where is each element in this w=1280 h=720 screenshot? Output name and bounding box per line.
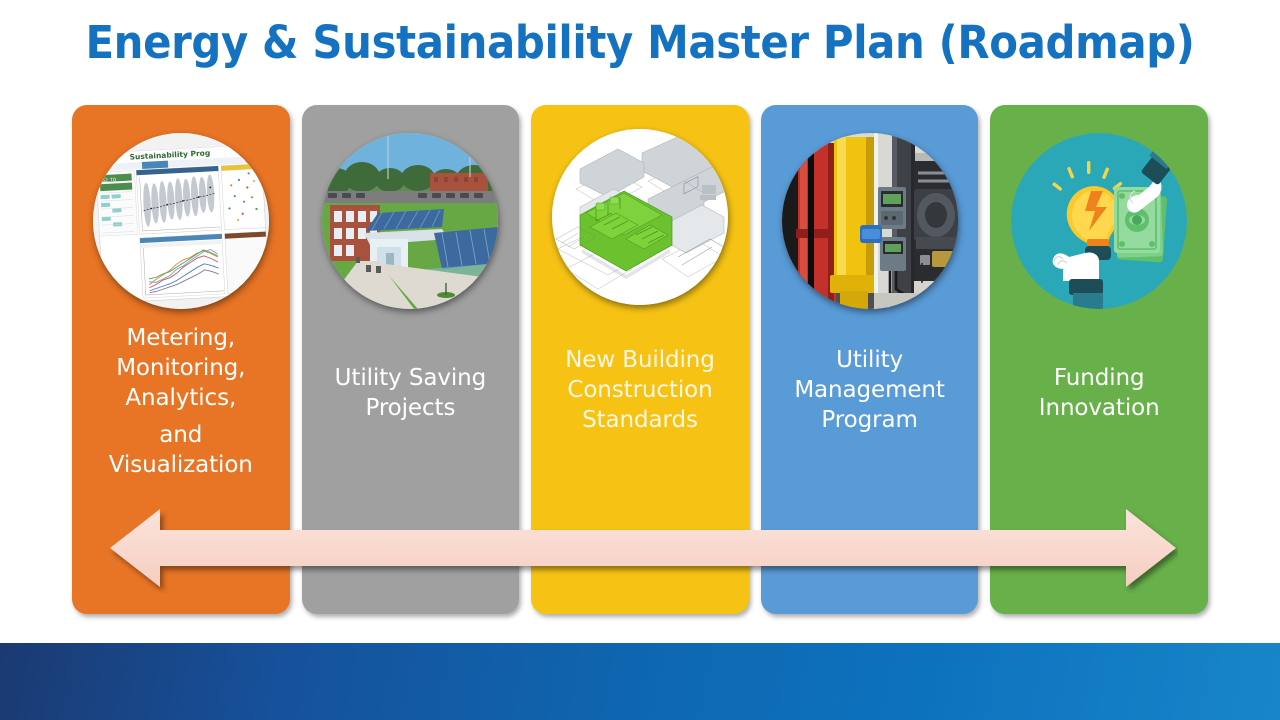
card-label-line: Standards: [582, 407, 698, 433]
card-label-line: New Building: [565, 347, 715, 373]
roadmap-card-utility-management[interactable]: Utility Management Program: [761, 105, 979, 614]
roadmap-card-metering[interactable]: Sustainability Prog 62.70: [72, 105, 290, 614]
card-label-line: Metering,: [126, 325, 235, 351]
card-label-line: Construction: [567, 377, 712, 403]
page-title: Energy & Sustainability Master Plan (Roa…: [45, 16, 1235, 69]
card-label-line: Utility: [836, 347, 903, 373]
roadmap-card-new-building[interactable]: New Building Construction Standards: [531, 105, 749, 614]
card-label-funding-innovation: Funding Innovation: [996, 363, 1202, 423]
card-image-utility-management: [782, 133, 958, 309]
card-image-new-building: [552, 129, 728, 305]
card-label-utility-management: Utility Management Program: [767, 345, 973, 435]
footer-bar: ALAMO COLLEGES DISTRICT Malcolm Baldrige…: [0, 643, 1280, 720]
card-image-utility-saving: [322, 133, 498, 309]
energy-dashboard-analytics-screenshot: Sustainability Prog 62.70: [93, 133, 269, 309]
roadmap-card-utility-saving[interactable]: Utility Saving Projects: [302, 105, 520, 614]
card-label-metering: Metering, Monitoring, Analytics, and Vis…: [78, 323, 284, 480]
card-label-line: Innovation: [1039, 395, 1160, 421]
card-label-line: Utility Saving: [335, 365, 486, 391]
roadmap-card-row: Sustainability Prog 62.70: [72, 105, 1208, 614]
card-image-funding-innovation: [1011, 133, 1187, 309]
card-label-blank-line: [78, 413, 284, 420]
card-label-line: Analytics,: [125, 385, 236, 411]
roadmap-card-funding-innovation[interactable]: Funding Innovation: [990, 105, 1208, 614]
card-label-line: and: [159, 422, 202, 448]
card-label-line: Program: [821, 407, 917, 433]
building-blueprint-3d-model-photo: [552, 129, 728, 305]
slide-canvas: Energy & Sustainability Master Plan (Roa…: [0, 0, 1280, 720]
card-label-line: Monitoring,: [116, 355, 245, 381]
solar-panel-campus-building-photo: [322, 133, 498, 309]
card-label-line: Management: [794, 377, 945, 403]
card-image-metering: Sustainability Prog 62.70: [93, 133, 269, 309]
lightbulb-money-exchange-illustration: [1011, 133, 1187, 309]
card-label-new-building: New Building Construction Standards: [537, 345, 743, 435]
card-label-line: Projects: [365, 395, 455, 421]
mechanical-room-piping-photo: [782, 133, 958, 309]
svg-text:62.70: 62.70: [101, 177, 116, 184]
card-label-line: Visualization: [109, 452, 253, 478]
card-label-line: Funding: [1054, 365, 1145, 391]
card-label-utility-saving: Utility Saving Projects: [308, 363, 514, 423]
